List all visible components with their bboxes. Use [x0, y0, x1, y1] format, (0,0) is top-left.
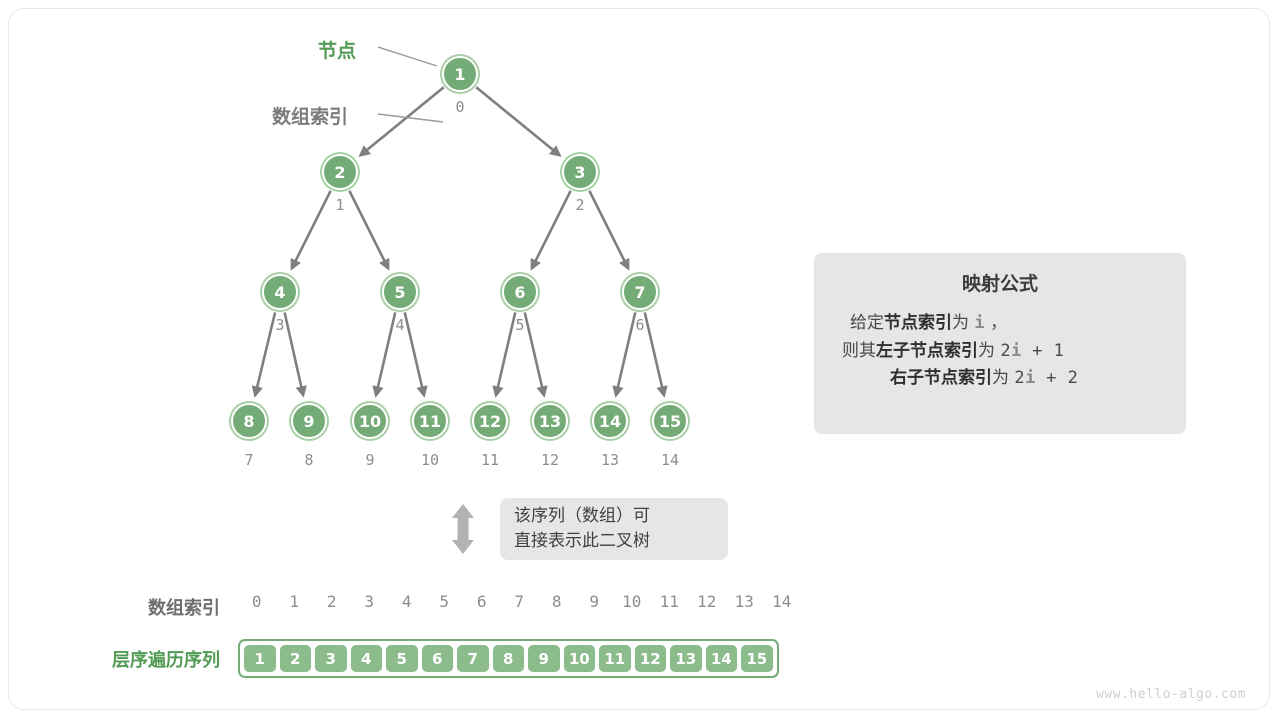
array-cell[interactable]: 15 [740, 644, 774, 673]
array-cells-container: 123456789101112131415 [238, 639, 779, 678]
tree-node-index-12: 12 [530, 451, 570, 469]
array-index-2: 2 [313, 592, 351, 611]
array-index-9: 9 [576, 592, 614, 611]
tree-node-3: 3 [562, 154, 598, 190]
tree-node-index-4: 4 [380, 316, 420, 334]
tree-node-10: 10 [352, 403, 388, 439]
array-cell[interactable]: 8 [492, 644, 526, 673]
array-index-8: 8 [538, 592, 576, 611]
formula-l1-pre: 给定 [850, 313, 884, 333]
tree-node-8: 8 [231, 403, 267, 439]
array-index-14: 14 [763, 592, 801, 611]
tree-node-index-2: 2 [560, 196, 600, 214]
tree-node-15: 15 [652, 403, 688, 439]
array-cell[interactable]: 2 [279, 644, 313, 673]
formula-l3-expr-a: 2 [1014, 368, 1025, 388]
diagram-canvas: 1021324354657687981091110121113121413151… [0, 0, 1280, 720]
watermark: www.hello-algo.com [1096, 687, 1246, 702]
tree-node-9: 9 [291, 403, 327, 439]
tree-node-index-7: 7 [229, 451, 269, 469]
tree-node-6: 6 [502, 274, 538, 310]
array-index-3: 3 [351, 592, 389, 611]
tree-node-2: 2 [322, 154, 358, 190]
array-cell[interactable]: 4 [350, 644, 384, 673]
formula-line-3: 右子节点索引为 2i + 2 [832, 365, 1168, 393]
formula-l2-bold: 左子节点索引 [876, 341, 978, 361]
formula-line-2: 则其左子节点索引为 2i + 1 [832, 338, 1168, 366]
formula-l3-bold: 右子节点索引 [890, 368, 992, 388]
level-order-row-label: 层序遍历序列 [40, 646, 220, 672]
array-index-5: 5 [426, 592, 464, 611]
formula-l2-expr-i: i [1011, 341, 1021, 361]
array-cell[interactable]: 12 [634, 644, 668, 673]
tree-node-index-11: 11 [470, 451, 510, 469]
tree-node-index-10: 10 [410, 451, 450, 469]
tree-node-13: 13 [532, 403, 568, 439]
array-cell[interactable]: 13 [669, 644, 703, 673]
formula-l1-var: i [974, 313, 984, 333]
formula-title: 映射公式 [832, 269, 1168, 296]
tree-node-14: 14 [592, 403, 628, 439]
array-index-0: 0 [238, 592, 276, 611]
array-index-4: 4 [388, 592, 426, 611]
note-line-1: 该序列（数组）可 [514, 504, 714, 529]
formula-l1-mid: 为 [952, 313, 969, 333]
array-cell[interactable]: 3 [314, 644, 348, 673]
array-index-13: 13 [726, 592, 764, 611]
array-index-row: 01234567891011121314 [238, 592, 801, 611]
formula-l1-post: ， [990, 313, 1007, 333]
double-arrow-icon [452, 504, 474, 554]
array-index-10: 10 [613, 592, 651, 611]
tree-node-index-6: 6 [620, 316, 660, 334]
tree-node-5: 5 [382, 274, 418, 310]
array-cell[interactable]: 5 [385, 644, 419, 673]
tree-node-11: 11 [412, 403, 448, 439]
formula-line-1: 给定节点索引为 i ， [832, 310, 1168, 338]
callout-array-index-label: 数组索引 [272, 102, 348, 129]
array-cell[interactable]: 9 [527, 644, 561, 673]
array-index-6: 6 [463, 592, 501, 611]
tree-node-index-13: 13 [590, 451, 630, 469]
array-index-12: 12 [688, 592, 726, 611]
array-index-row-label: 数组索引 [40, 594, 220, 620]
callout-node-label: 节点 [318, 36, 356, 63]
formula-l3-mid: 为 [992, 368, 1009, 388]
formula-l3-expr-i: i [1025, 368, 1035, 388]
mapping-formula-box: 映射公式 给定节点索引为 i ， 则其左子节点索引为 2i + 1 右子节点索引… [814, 253, 1186, 434]
formula-l2-expr-b: + 1 [1021, 341, 1064, 361]
formula-l1-bold: 节点索引 [884, 313, 952, 333]
tree-node-index-1: 1 [320, 196, 360, 214]
formula-l2-pre: 则其 [842, 341, 876, 361]
formula-l2-mid: 为 [978, 341, 995, 361]
array-cell[interactable]: 10 [563, 644, 597, 673]
sequence-note-box: 该序列（数组）可 直接表示此二叉树 [500, 498, 728, 560]
array-index-1: 1 [276, 592, 314, 611]
tree-node-index-3: 3 [260, 316, 300, 334]
tree-node-index-0: 0 [440, 98, 480, 116]
array-cell[interactable]: 11 [598, 644, 632, 673]
tree-node-index-8: 8 [289, 451, 329, 469]
tree-node-index-9: 9 [350, 451, 390, 469]
tree-node-12: 12 [472, 403, 508, 439]
formula-l2-expr-a: 2 [1000, 341, 1011, 361]
array-index-11: 11 [651, 592, 689, 611]
array-cell[interactable]: 6 [421, 644, 455, 673]
tree-node-4: 4 [262, 274, 298, 310]
tree-node-index-14: 14 [650, 451, 690, 469]
array-cell[interactable]: 14 [705, 644, 739, 673]
array-index-7: 7 [501, 592, 539, 611]
tree-node-7: 7 [622, 274, 658, 310]
tree-node-1: 1 [442, 56, 478, 92]
array-cell[interactable]: 1 [243, 644, 277, 673]
tree-node-index-5: 5 [500, 316, 540, 334]
array-cell[interactable]: 7 [456, 644, 490, 673]
note-line-2: 直接表示此二叉树 [514, 529, 714, 554]
formula-l3-expr-b: + 2 [1035, 368, 1078, 388]
